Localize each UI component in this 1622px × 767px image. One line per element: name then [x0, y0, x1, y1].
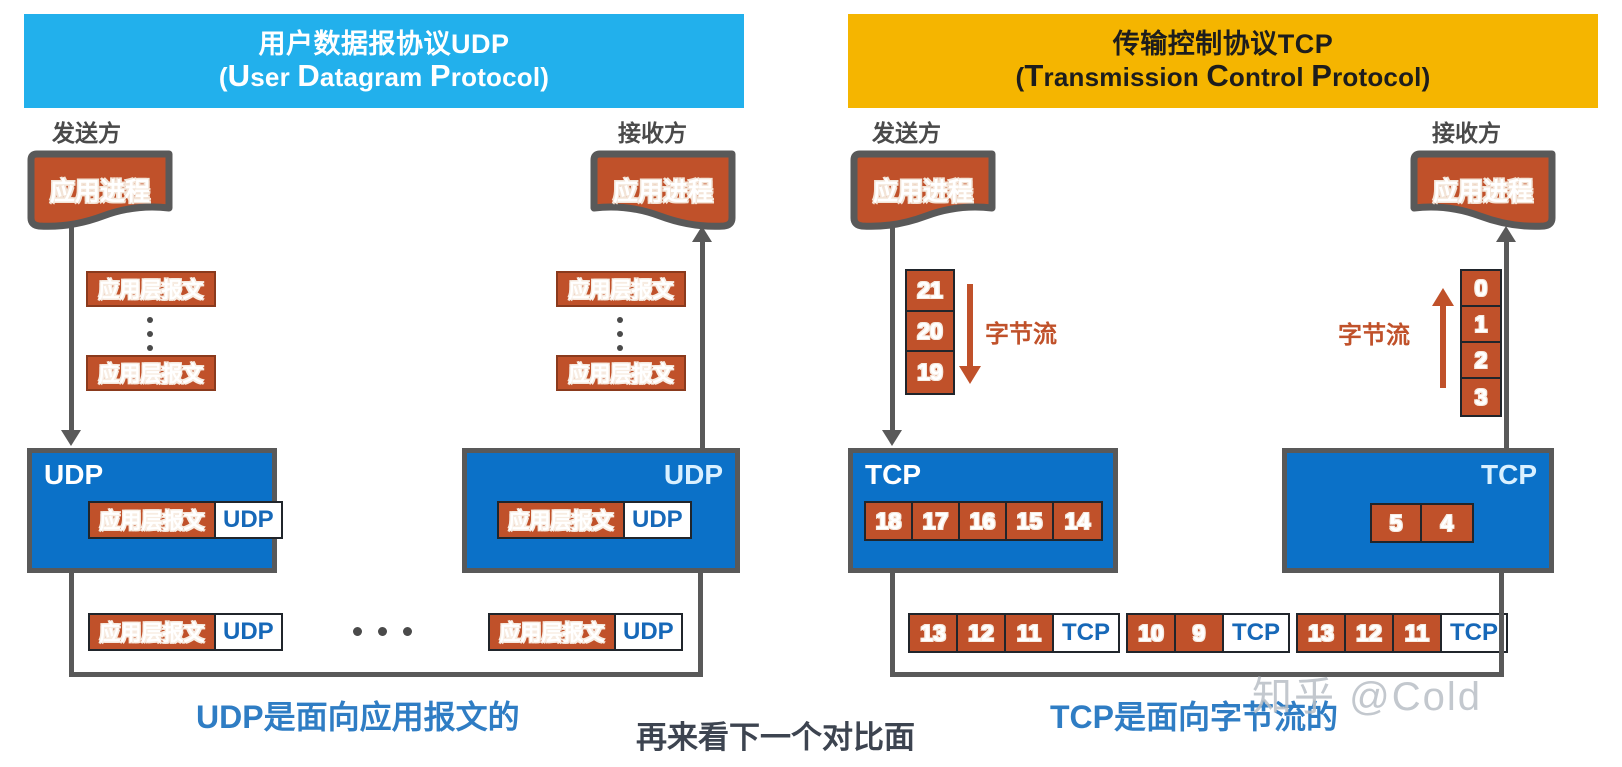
tcp-receiver-protocol-box: TCP 5 4 [1282, 448, 1554, 573]
udp-sender-lower-connector [69, 570, 74, 677]
tcp-segment-header: TCP [1054, 615, 1118, 651]
tcp-sender-stream-label: 字节流 [985, 314, 1057, 349]
tcp-sender-buffer-byte: 18 [866, 503, 913, 539]
watermark: 知乎 @Cold [1252, 664, 1482, 722]
tcp-segment-byte: 13 [1298, 615, 1346, 651]
diagram-canvas: 用户数据报协议UDP (User Datagram Protocol) 传输控制… [0, 0, 1622, 767]
udp-receiver-datagram: 应用层报文 UDP [497, 501, 692, 539]
udp-receiver-incoming-payload: 应用层报文 [488, 613, 616, 651]
tcp-segment-byte: 12 [958, 615, 1006, 651]
udp-receiver-connector-line [700, 240, 705, 452]
tcp-sender-buffer-byte: 15 [1007, 503, 1054, 539]
tcp-receiver-stream-arrow-icon [1428, 288, 1458, 388]
tcp-segment-byte: 11 [1006, 615, 1054, 651]
tcp-receiver-connector-line [1504, 240, 1509, 452]
udp-sender-datagram-payload: 应用层报文 [88, 501, 216, 539]
tcp-segment-1: 13 12 11 TCP [908, 613, 1120, 653]
tcp-segment-byte: 9 [1176, 615, 1224, 651]
tcp-segment-byte: 13 [910, 615, 958, 651]
tcp-segment-2: 10 9 TCP [1126, 613, 1290, 653]
udp-receiver-app-process: 应用进程 [588, 148, 738, 238]
tcp-segment-header: TCP [1442, 615, 1506, 651]
udp-sender-connector-line [69, 226, 74, 434]
tcp-receiver-label: 接收方 [1432, 114, 1501, 148]
udp-caption: UDP是面向应用报文的 [196, 692, 520, 738]
udp-sender-message-2: 应用层报文 [86, 355, 216, 391]
tcp-receiver-byte-cell: 2 [1462, 343, 1500, 379]
tcp-sender-protocol-label: TCP [865, 459, 921, 491]
tcp-title-chinese: 传输控制协议TCP [1113, 29, 1334, 59]
tcp-sender-connector-line [890, 226, 895, 434]
tcp-receiver-arrowhead-icon [1496, 226, 1516, 242]
udp-sender-datagram: 应用层报文 UDP [88, 501, 283, 539]
tcp-sender-lower-connector [890, 570, 895, 677]
udp-receiver-label: 接收方 [618, 114, 687, 148]
tcp-segment-byte: 10 [1128, 615, 1176, 651]
tcp-sender-arrowhead-icon [882, 430, 902, 446]
udp-receiver-message-1: 应用层报文 [556, 271, 686, 307]
udp-title-banner: 用户数据报协议UDP (User Datagram Protocol) [24, 14, 744, 108]
udp-sender-outgoing-datagram: 应用层报文 UDP [88, 613, 283, 651]
tcp-segment-header: TCP [1224, 615, 1288, 651]
tcp-receiver-buffer-byte: 4 [1422, 505, 1472, 541]
udp-sender-protocol-label: UDP [44, 459, 103, 491]
tcp-sender-buffer-byte: 16 [960, 503, 1007, 539]
tcp-sender-buffer-byte: 14 [1054, 503, 1101, 539]
tcp-sender-stream-arrow-icon [955, 284, 985, 384]
udp-sender-outgoing-payload: 应用层报文 [88, 613, 216, 651]
udp-receiver-arrowhead-icon [692, 226, 712, 242]
tcp-receiver-protocol-label: TCP [1481, 459, 1537, 491]
udp-datagram-ellipsis [353, 627, 412, 636]
footnote-text: 再来看下一个对比面 [636, 712, 915, 757]
udp-receiver-datagram-header: UDP [625, 501, 692, 539]
tcp-sender-byte-cell: 21 [907, 271, 953, 312]
tcp-receiver-byte-cell: 0 [1462, 271, 1500, 307]
tcp-segment-byte: 12 [1346, 615, 1394, 651]
udp-receiver-protocol-box: UDP 应用层报文 UDP [462, 448, 740, 573]
tcp-sender-buffer-byte: 17 [913, 503, 960, 539]
tcp-receiver-buffer-row: 5 4 [1370, 503, 1474, 543]
tcp-sender-byte-cell: 20 [907, 312, 953, 353]
tcp-sender-buffer-row: 18 17 16 15 14 [864, 501, 1103, 541]
tcp-receiver-byte-stack: 0 1 2 3 [1460, 269, 1502, 417]
tcp-sender-app-process: 应用进程 [848, 148, 998, 238]
tcp-sender-byte-cell: 19 [907, 352, 953, 393]
udp-sender-datagram-header: UDP [216, 501, 283, 539]
udp-receiver-protocol-label: UDP [664, 459, 723, 491]
udp-sender-outgoing-header: UDP [216, 613, 283, 651]
tcp-sender-protocol-box: TCP 18 17 16 15 14 [848, 448, 1118, 573]
tcp-title-banner: 传输控制协议TCP (Transmission Control Protocol… [848, 14, 1598, 108]
udp-title-chinese: 用户数据报协议UDP [258, 29, 509, 59]
tcp-receiver-byte-cell: 3 [1462, 379, 1500, 415]
tcp-receiver-buffer-byte: 5 [1372, 505, 1422, 541]
udp-receiver-lower-connector [698, 570, 703, 677]
tcp-receiver-byte-cell: 1 [1462, 307, 1500, 343]
udp-receiver-incoming-datagram: 应用层报文 UDP [488, 613, 683, 651]
udp-sender-message-1: 应用层报文 [86, 271, 216, 307]
udp-network-link-line [69, 672, 703, 677]
tcp-segment-byte: 11 [1394, 615, 1442, 651]
tcp-title-english: (Transmission Control Protocol) [1016, 59, 1431, 94]
udp-receiver-message-2: 应用层报文 [556, 355, 686, 391]
tcp-sender-byte-stack: 21 20 19 [905, 269, 955, 395]
udp-sender-protocol-box: UDP 应用层报文 UDP [27, 448, 277, 573]
udp-sender-message-ellipsis [147, 317, 153, 351]
udp-title-english: (User Datagram Protocol) [219, 59, 549, 94]
udp-sender-label: 发送方 [52, 114, 121, 148]
udp-receiver-incoming-header: UDP [616, 613, 683, 651]
tcp-receiver-lower-connector [1499, 570, 1504, 677]
udp-receiver-datagram-payload: 应用层报文 [497, 501, 625, 539]
udp-receiver-message-ellipsis [617, 317, 623, 351]
udp-sender-arrowhead-icon [61, 430, 81, 446]
tcp-segment-3: 13 12 11 TCP [1296, 613, 1508, 653]
tcp-receiver-stream-label: 字节流 [1338, 315, 1410, 350]
tcp-receiver-app-process: 应用进程 [1408, 148, 1558, 238]
udp-sender-app-process: 应用进程 [25, 148, 175, 238]
tcp-sender-label: 发送方 [872, 114, 941, 148]
